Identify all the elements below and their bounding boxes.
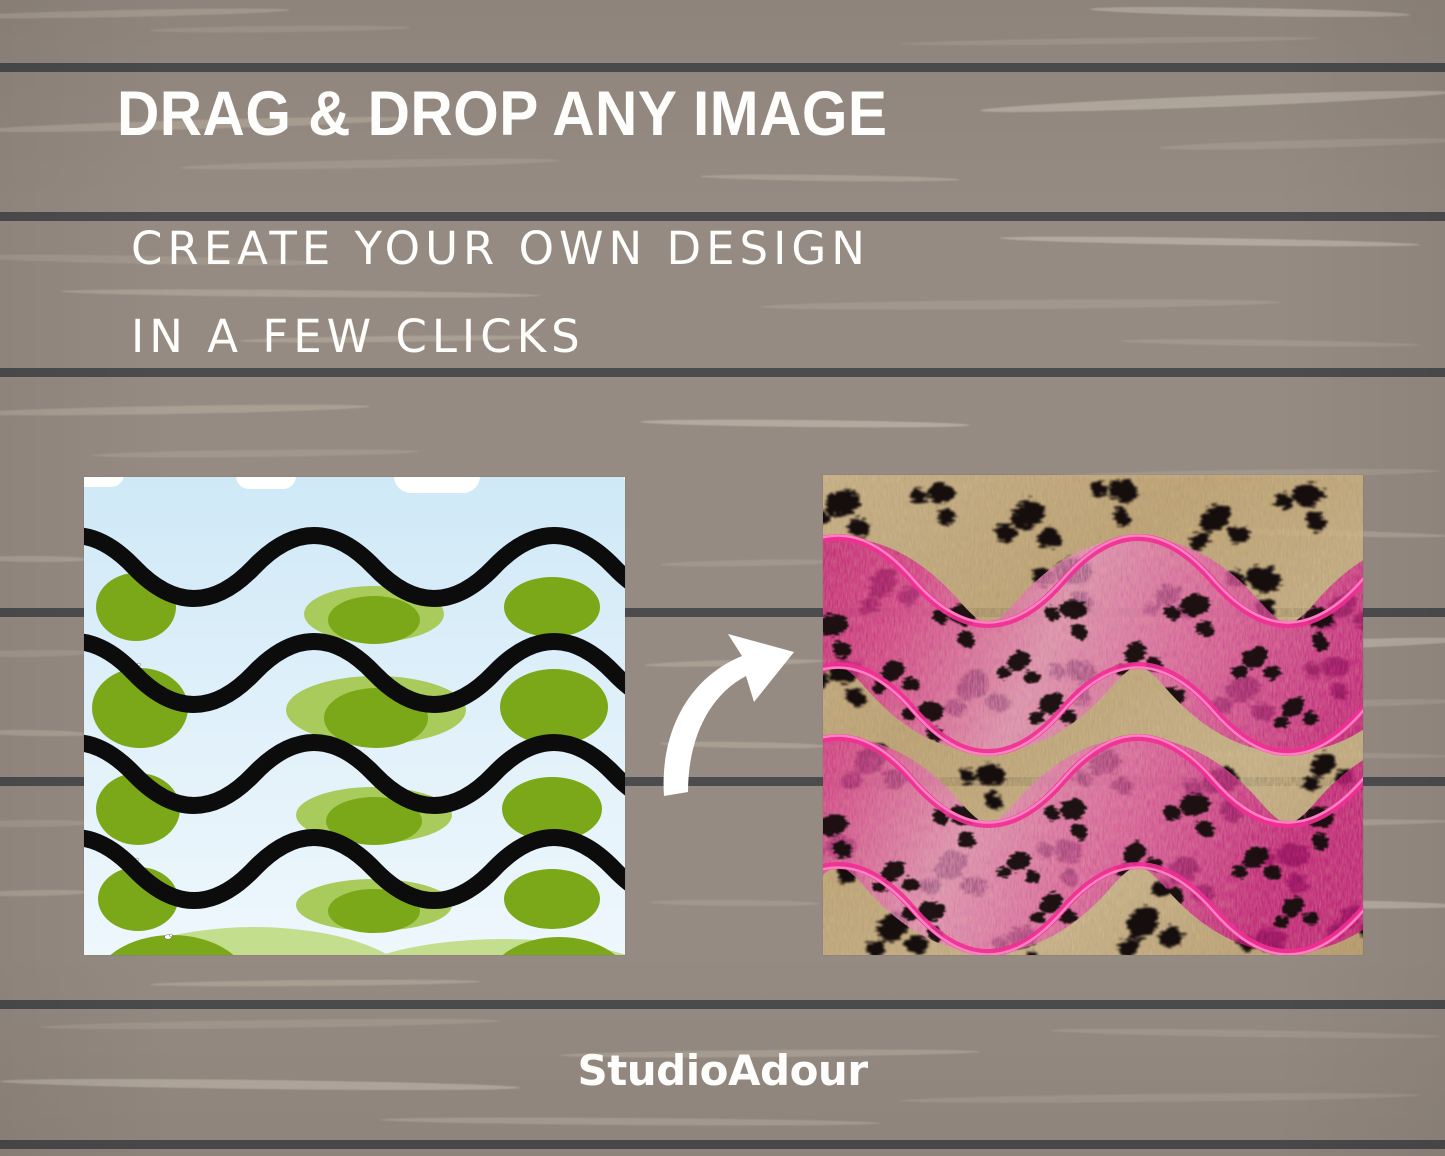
curved-arrow-icon	[650, 628, 810, 800]
subtitle-line-1: CREATE YOUR OWN DESIGN	[131, 226, 870, 271]
before-image-preview[interactable]	[84, 477, 625, 955]
after-image-preview[interactable]	[823, 475, 1363, 955]
wave-pattern-artwork	[84, 477, 625, 955]
page-title: DRAG & DROP ANY IMAGE	[117, 83, 887, 146]
leopard-pattern-artwork	[823, 475, 1363, 955]
brand-name: StudioAdour	[0, 1046, 1445, 1095]
poster-canvas: DRAG & DROP ANY IMAGE CREATE YOUR OWN DE…	[0, 0, 1445, 1156]
subtitle-line-2: IN A FEW CLICKS	[131, 314, 585, 359]
